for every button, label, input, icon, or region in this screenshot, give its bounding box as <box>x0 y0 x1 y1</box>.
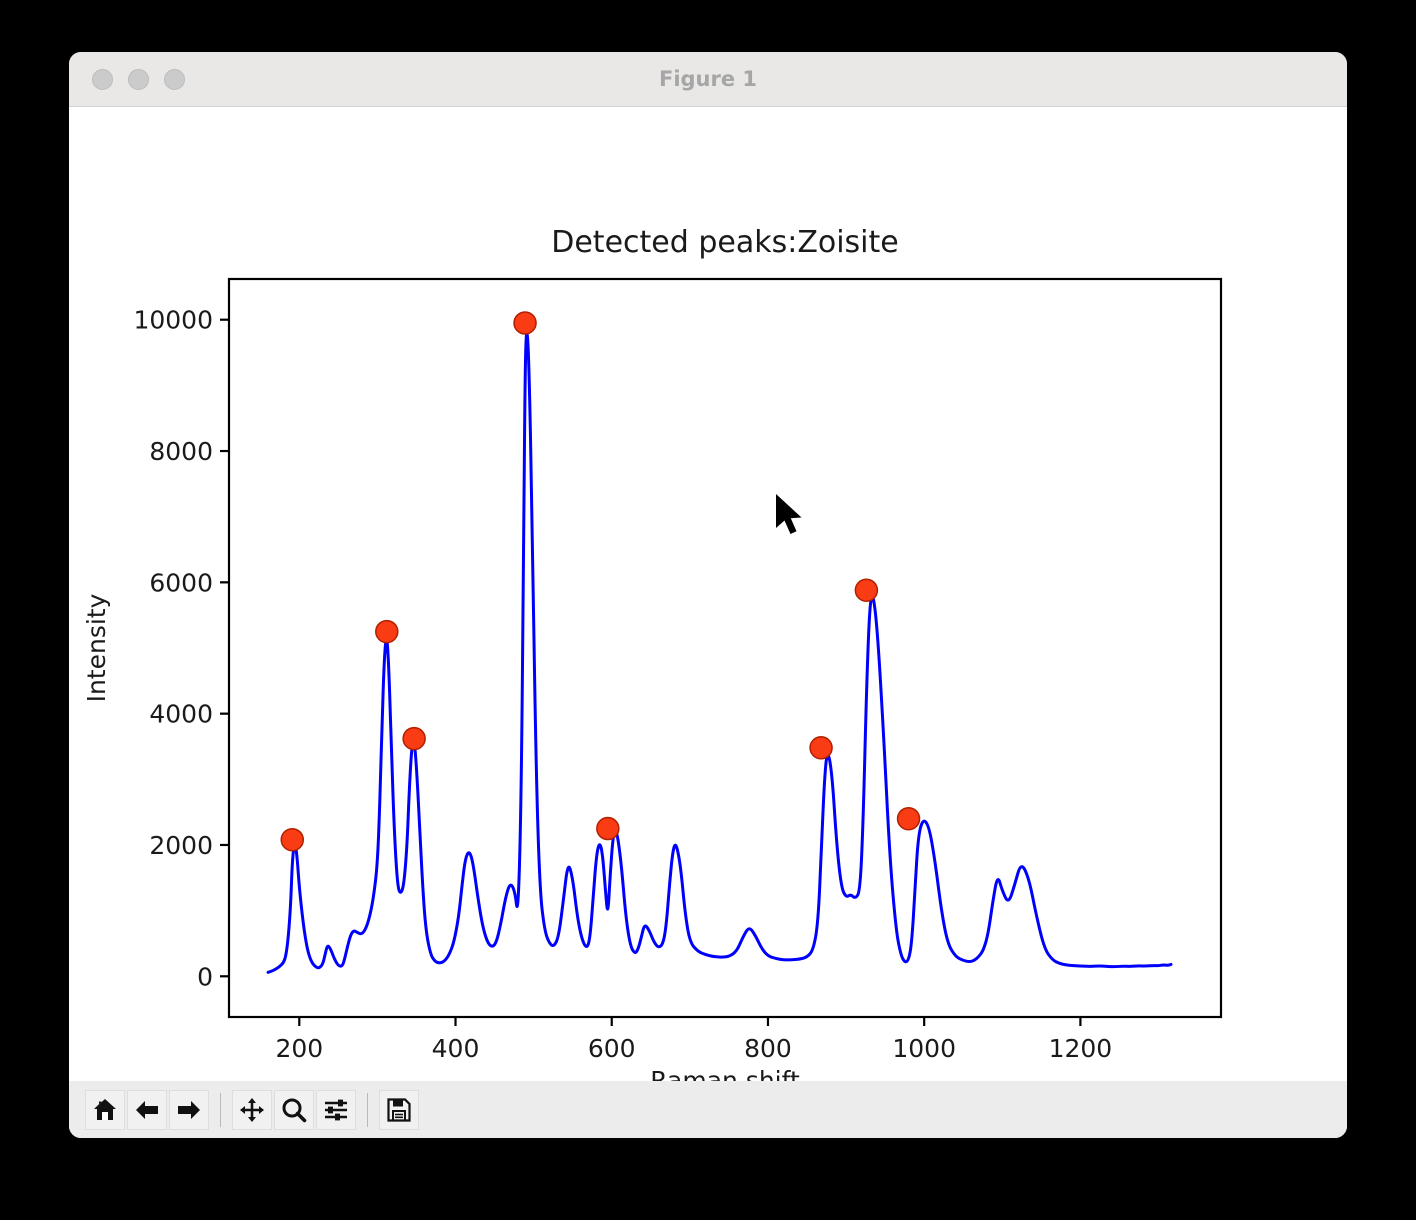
floppy-disk-icon <box>386 1097 412 1123</box>
window-titlebar: Figure 1 <box>69 52 1347 107</box>
y-tick-label: 0 <box>197 962 213 991</box>
y-tick-label: 6000 <box>149 568 213 597</box>
back-button[interactable] <box>127 1090 167 1130</box>
y-tick-label: 8000 <box>149 437 213 466</box>
x-tick-label: 1000 <box>892 1034 956 1063</box>
window-controls <box>92 69 185 90</box>
left-arrow-icon <box>134 1097 160 1123</box>
right-arrow-icon <box>176 1097 202 1123</box>
subplots-button[interactable] <box>316 1090 356 1130</box>
peak-marker <box>855 579 877 601</box>
save-button[interactable] <box>379 1090 419 1130</box>
move-cross-icon <box>239 1097 265 1123</box>
x-tick-label: 600 <box>588 1034 636 1063</box>
magnifier-icon <box>281 1097 307 1123</box>
close-button[interactable] <box>92 69 113 90</box>
zoom-button[interactable] <box>274 1090 314 1130</box>
y-axis-label: Intensity <box>82 593 111 702</box>
forward-button[interactable] <box>169 1090 209 1130</box>
x-tick-label: 800 <box>744 1034 792 1063</box>
zoom-button[interactable] <box>164 69 185 90</box>
peak-marker <box>597 818 619 840</box>
x-tick-label: 200 <box>275 1034 323 1063</box>
peak-marker <box>281 829 303 851</box>
peak-marker <box>898 808 920 830</box>
toolbar-separator-2 <box>367 1093 368 1127</box>
figure-window: Figure 1 0200040006000800010000 20040060… <box>69 52 1347 1138</box>
peak-marker <box>376 621 398 643</box>
x-tick-label: 1200 <box>1049 1034 1113 1063</box>
peak-marker <box>810 737 832 759</box>
sliders-icon <box>323 1097 349 1123</box>
peak-marker <box>514 312 536 334</box>
matplotlib-plot[interactable]: 0200040006000800010000 20040060080010001… <box>69 107 1347 1082</box>
toolbar-separator-1 <box>220 1093 221 1127</box>
y-tick-label: 4000 <box>149 700 213 729</box>
x-axis-label: Raman shift <box>650 1066 800 1082</box>
home-button[interactable] <box>85 1090 125 1130</box>
window-title: Figure 1 <box>69 67 1347 91</box>
home-icon <box>92 1097 118 1123</box>
plot-title: Detected peaks:Zoisite <box>551 225 899 260</box>
peak-marker <box>403 728 425 750</box>
screen: Figure 1 0200040006000800010000 20040060… <box>0 0 1416 1220</box>
navigation-toolbar[interactable] <box>69 1081 1347 1138</box>
figure-canvas[interactable]: 0200040006000800010000 20040060080010001… <box>69 107 1347 1082</box>
pan-button[interactable] <box>232 1090 272 1130</box>
minimize-button[interactable] <box>128 69 149 90</box>
x-tick-label: 400 <box>432 1034 480 1063</box>
y-tick-label: 2000 <box>149 831 213 860</box>
y-tick-label: 10000 <box>133 306 213 335</box>
